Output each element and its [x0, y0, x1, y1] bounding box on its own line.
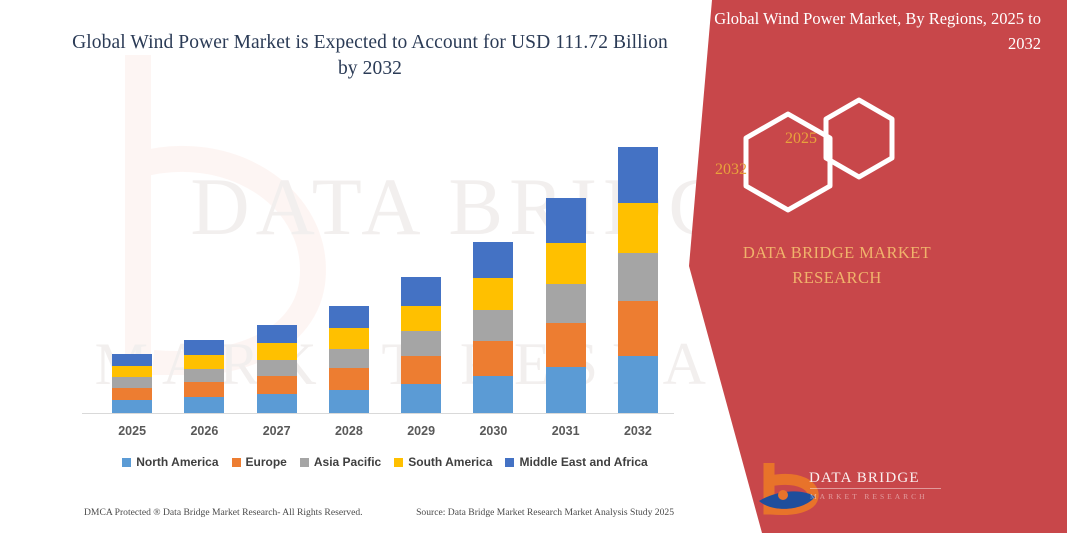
bar-column-2028	[313, 120, 384, 413]
bar-segment	[329, 349, 369, 368]
footer-source: Source: Data Bridge Market Research Mark…	[416, 507, 674, 518]
stacked-bar[interactable]	[257, 325, 297, 413]
stacked-bar[interactable]	[329, 306, 369, 413]
bar-segment	[329, 390, 369, 413]
x-axis-label-2026: 2026	[169, 424, 240, 438]
bar-segment	[329, 368, 369, 390]
stacked-bar[interactable]	[546, 198, 586, 413]
bar-segment	[546, 198, 586, 243]
left-panel: Global Wind Power Market is Expected to …	[0, 0, 770, 533]
bar-segment	[329, 306, 369, 328]
infographic-root: DATA BRIDGE MARKET RESEARCH Global Wind …	[0, 0, 1067, 533]
bar-segment	[401, 331, 441, 355]
x-axis-label-2030: 2030	[458, 424, 529, 438]
x-axis-label-2028: 2028	[313, 424, 384, 438]
bar-segment	[546, 284, 586, 323]
legend-label: Middle East and Africa	[519, 455, 647, 469]
hexagon-label-2032: 2032	[715, 161, 747, 179]
bar-column-2026	[169, 120, 240, 413]
bar-segment	[473, 376, 513, 413]
logo-divider	[810, 488, 941, 489]
chart-legend: North AmericaEuropeAsia PacificSouth Ame…	[96, 455, 674, 469]
legend-item[interactable]: Middle East and Africa	[505, 455, 647, 469]
legend-item[interactable]: Europe	[232, 455, 287, 469]
bar-segment	[401, 306, 441, 332]
bar-column-2031	[530, 120, 601, 413]
bar-segment	[257, 376, 297, 394]
stacked-bar[interactable]	[618, 147, 658, 413]
x-axis-label-2025: 2025	[97, 424, 168, 438]
bar-segment	[184, 340, 224, 355]
right-panel-content: Global Wind Power Market, By Regions, 20…	[667, 0, 1067, 533]
bar-segment	[473, 242, 513, 278]
legend-swatch-icon	[122, 458, 131, 467]
bar-segment	[329, 328, 369, 349]
bar-segment	[546, 323, 586, 367]
bar-column-2030	[458, 120, 529, 413]
legend-swatch-icon	[394, 458, 403, 467]
legend-swatch-icon	[232, 458, 241, 467]
hexagon-group	[722, 92, 922, 217]
right-panel: Global Wind Power Market, By Regions, 20…	[667, 0, 1067, 533]
x-axis-label-2027: 2027	[241, 424, 312, 438]
page-title: Global Wind Power Market is Expected to …	[60, 30, 680, 82]
bar-segment	[112, 354, 152, 366]
hexagon-outlines-icon	[722, 92, 922, 217]
legend-swatch-icon	[300, 458, 309, 467]
legend-swatch-icon	[505, 458, 514, 467]
bar-segment	[112, 400, 152, 413]
legend-label: Europe	[246, 455, 287, 469]
logo-tagline: MARKET RESEARCH	[810, 492, 928, 501]
bar-segment	[257, 325, 297, 344]
bar-segment	[618, 356, 658, 413]
legend-item[interactable]: South America	[394, 455, 492, 469]
bar-segment	[473, 310, 513, 341]
stacked-bar[interactable]	[112, 354, 152, 413]
bar-segment	[473, 278, 513, 310]
legend-item[interactable]: Asia Pacific	[300, 455, 381, 469]
legend-label: North America	[136, 455, 218, 469]
bar-segment	[184, 382, 224, 397]
x-axis-line	[82, 413, 674, 414]
x-axis-labels: 20252026202720282029203020312032	[96, 424, 674, 438]
bar-segment	[184, 355, 224, 369]
brand-name: DATA BRIDGE MARKET RESEARCH	[707, 240, 967, 290]
bar-segment	[546, 367, 586, 413]
bar-column-2027	[241, 120, 312, 413]
bar-segment	[112, 388, 152, 400]
legend-label: Asia Pacific	[314, 455, 381, 469]
panel-title: Global Wind Power Market, By Regions, 20…	[689, 6, 1051, 56]
bar-segment	[112, 377, 152, 388]
bar-segment	[618, 253, 658, 301]
bar-column-2025	[97, 120, 168, 413]
logo-wordmark: DATA BRIDGE	[809, 470, 920, 487]
legend-item[interactable]: North America	[122, 455, 218, 469]
x-axis-label-2032: 2032	[602, 424, 673, 438]
bar-column-2029	[386, 120, 457, 413]
bar-segment	[112, 366, 152, 377]
stacked-bar[interactable]	[401, 277, 441, 413]
chart-plot-area	[96, 120, 674, 413]
bar-segment	[257, 360, 297, 376]
bar-column-2032	[602, 120, 673, 413]
x-axis-label-2029: 2029	[386, 424, 457, 438]
bar-segment	[184, 397, 224, 413]
x-axis-label-2031: 2031	[530, 424, 601, 438]
bar-segment	[473, 341, 513, 376]
legend-label: South America	[408, 455, 492, 469]
hexagon-label-2025: 2025	[785, 130, 817, 148]
bar-segment	[618, 203, 658, 254]
stacked-bar[interactable]	[473, 242, 513, 413]
bar-segment	[401, 356, 441, 384]
bar-segment	[546, 243, 586, 284]
stacked-bar[interactable]	[184, 340, 224, 413]
bar-segment	[257, 343, 297, 360]
stacked-bar-chart	[96, 120, 674, 414]
bar-segment	[184, 369, 224, 382]
footer: DMCA Protected ® Data Bridge Market Rese…	[84, 507, 674, 518]
bar-segment	[401, 277, 441, 306]
bar-segment	[257, 394, 297, 413]
bar-segment	[618, 147, 658, 203]
footer-copyright: DMCA Protected ® Data Bridge Market Rese…	[84, 507, 363, 518]
bar-segment	[618, 301, 658, 355]
bar-segment	[401, 384, 441, 413]
